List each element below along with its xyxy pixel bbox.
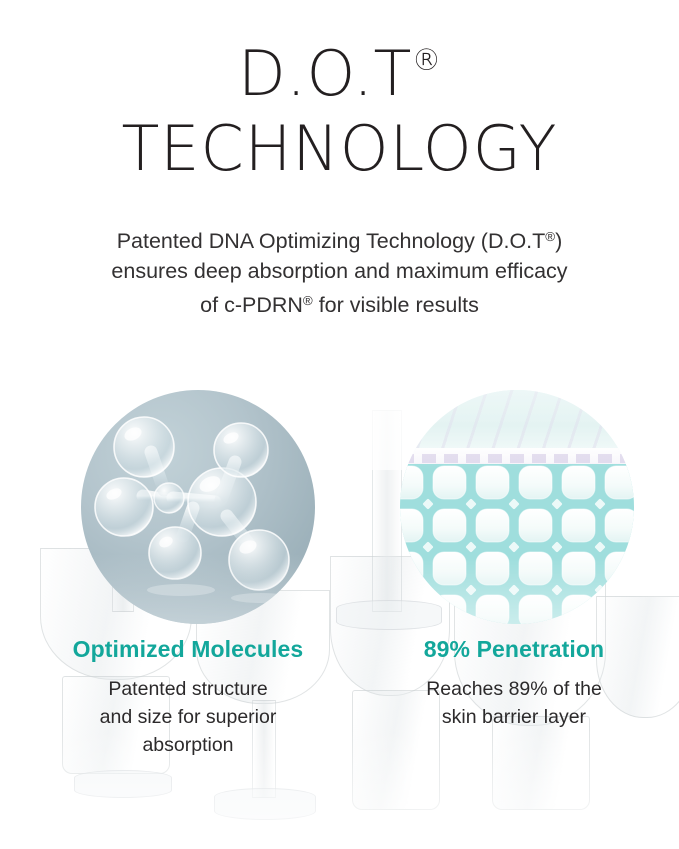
page-title-line-2: TECHNOLOGY (0, 120, 679, 177)
feature-penetration: 89% Penetration Reaches 89% of the skin … (364, 634, 664, 731)
molecule-illustration (81, 390, 315, 624)
feature-optimized-molecules: Optimized Molecules Patented structure a… (38, 634, 338, 759)
page-title-line-1: D.O.T® (0, 45, 679, 102)
feature-body-line-1: Reaches 89% of the (364, 675, 664, 703)
feature-body: Patented structure and size for superior… (38, 675, 338, 759)
molecule-graphic (81, 390, 315, 624)
feature-body-line-1: Patented structure (38, 675, 338, 703)
feature-body-line-2: skin barrier layer (364, 703, 664, 731)
subtitle-line-1: Patented DNA Optimizing Technology (D.O.… (0, 222, 679, 256)
feature-body: Reaches 89% of the skin barrier layer (364, 675, 664, 731)
subtitle: Patented DNA Optimizing Technology (D.O.… (0, 222, 679, 320)
subtitle-line-3-text: of c-PDRN (200, 293, 303, 317)
dot-technology-infographic: D.O.T® TECHNOLOGY Patented DNA Optimizin… (0, 0, 679, 849)
feature-body-line-2: and size for superior (38, 703, 338, 731)
registered-trademark-icon: ® (303, 293, 313, 308)
subtitle-line-3: of c-PDRN® for visible results (0, 286, 679, 320)
feature-heading: Optimized Molecules (38, 634, 338, 664)
feature-heading: 89% Penetration (364, 634, 664, 664)
subtitle-line-3-tail: for visible results (313, 293, 479, 317)
feature-body-line-3: absorption (38, 731, 338, 759)
lattice-graphic (400, 390, 634, 624)
subtitle-line-1-close: ) (555, 229, 562, 253)
registered-trademark-icon: ® (412, 43, 441, 77)
registered-trademark-icon: ® (545, 229, 555, 244)
subtitle-line-2: ensures deep absorption and maximum effi… (0, 256, 679, 286)
subtitle-line-1-text: Patented DNA Optimizing Technology (D.O.… (117, 229, 546, 253)
skin-barrier-lattice-illustration (400, 390, 634, 624)
title-text: D.O.T (238, 37, 412, 110)
